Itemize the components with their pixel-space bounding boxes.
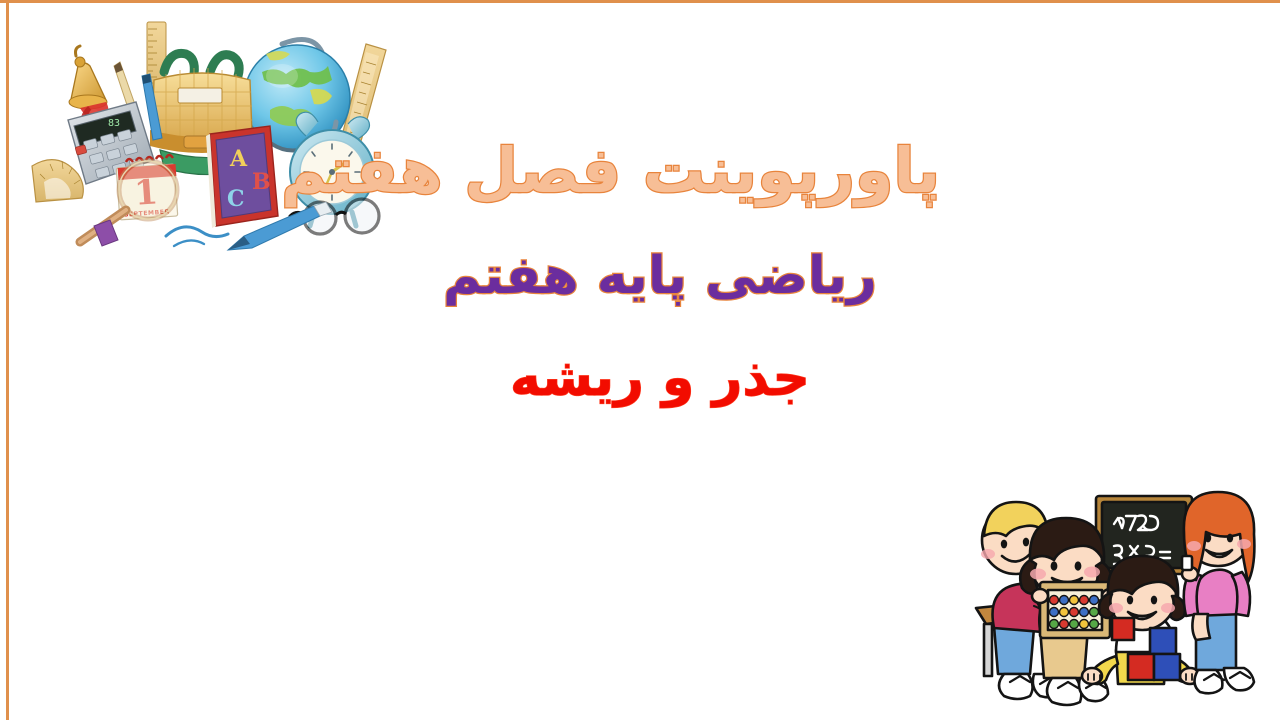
slide-top-border (0, 0, 1280, 3)
svg-text:A: A (229, 146, 248, 172)
svg-text:C: C (227, 186, 245, 212)
svg-text:83: 83 (108, 118, 120, 129)
svg-text:B: B (252, 169, 271, 195)
title-line-topic: جذر و ریشه (380, 352, 940, 404)
marker-icon (94, 220, 118, 246)
child-red-hair-girl (1182, 492, 1254, 693)
slide-left-border (6, 0, 9, 720)
protractor-icon (32, 160, 83, 202)
children-doing-math-illustration (968, 478, 1268, 710)
slide-canvas: 83 (0, 0, 1280, 720)
title-line-chapter: پاورپوینت فصل هفتم (380, 140, 940, 202)
paper-scribble-icon (166, 227, 228, 246)
slide-title-block: پاورپوینت فصل هفتم ریاضی پایه هفتم جذر و… (380, 140, 940, 404)
abc-book-icon: A B C (206, 126, 278, 228)
title-line-subject: ریاضی پایه هفتم (380, 250, 940, 302)
